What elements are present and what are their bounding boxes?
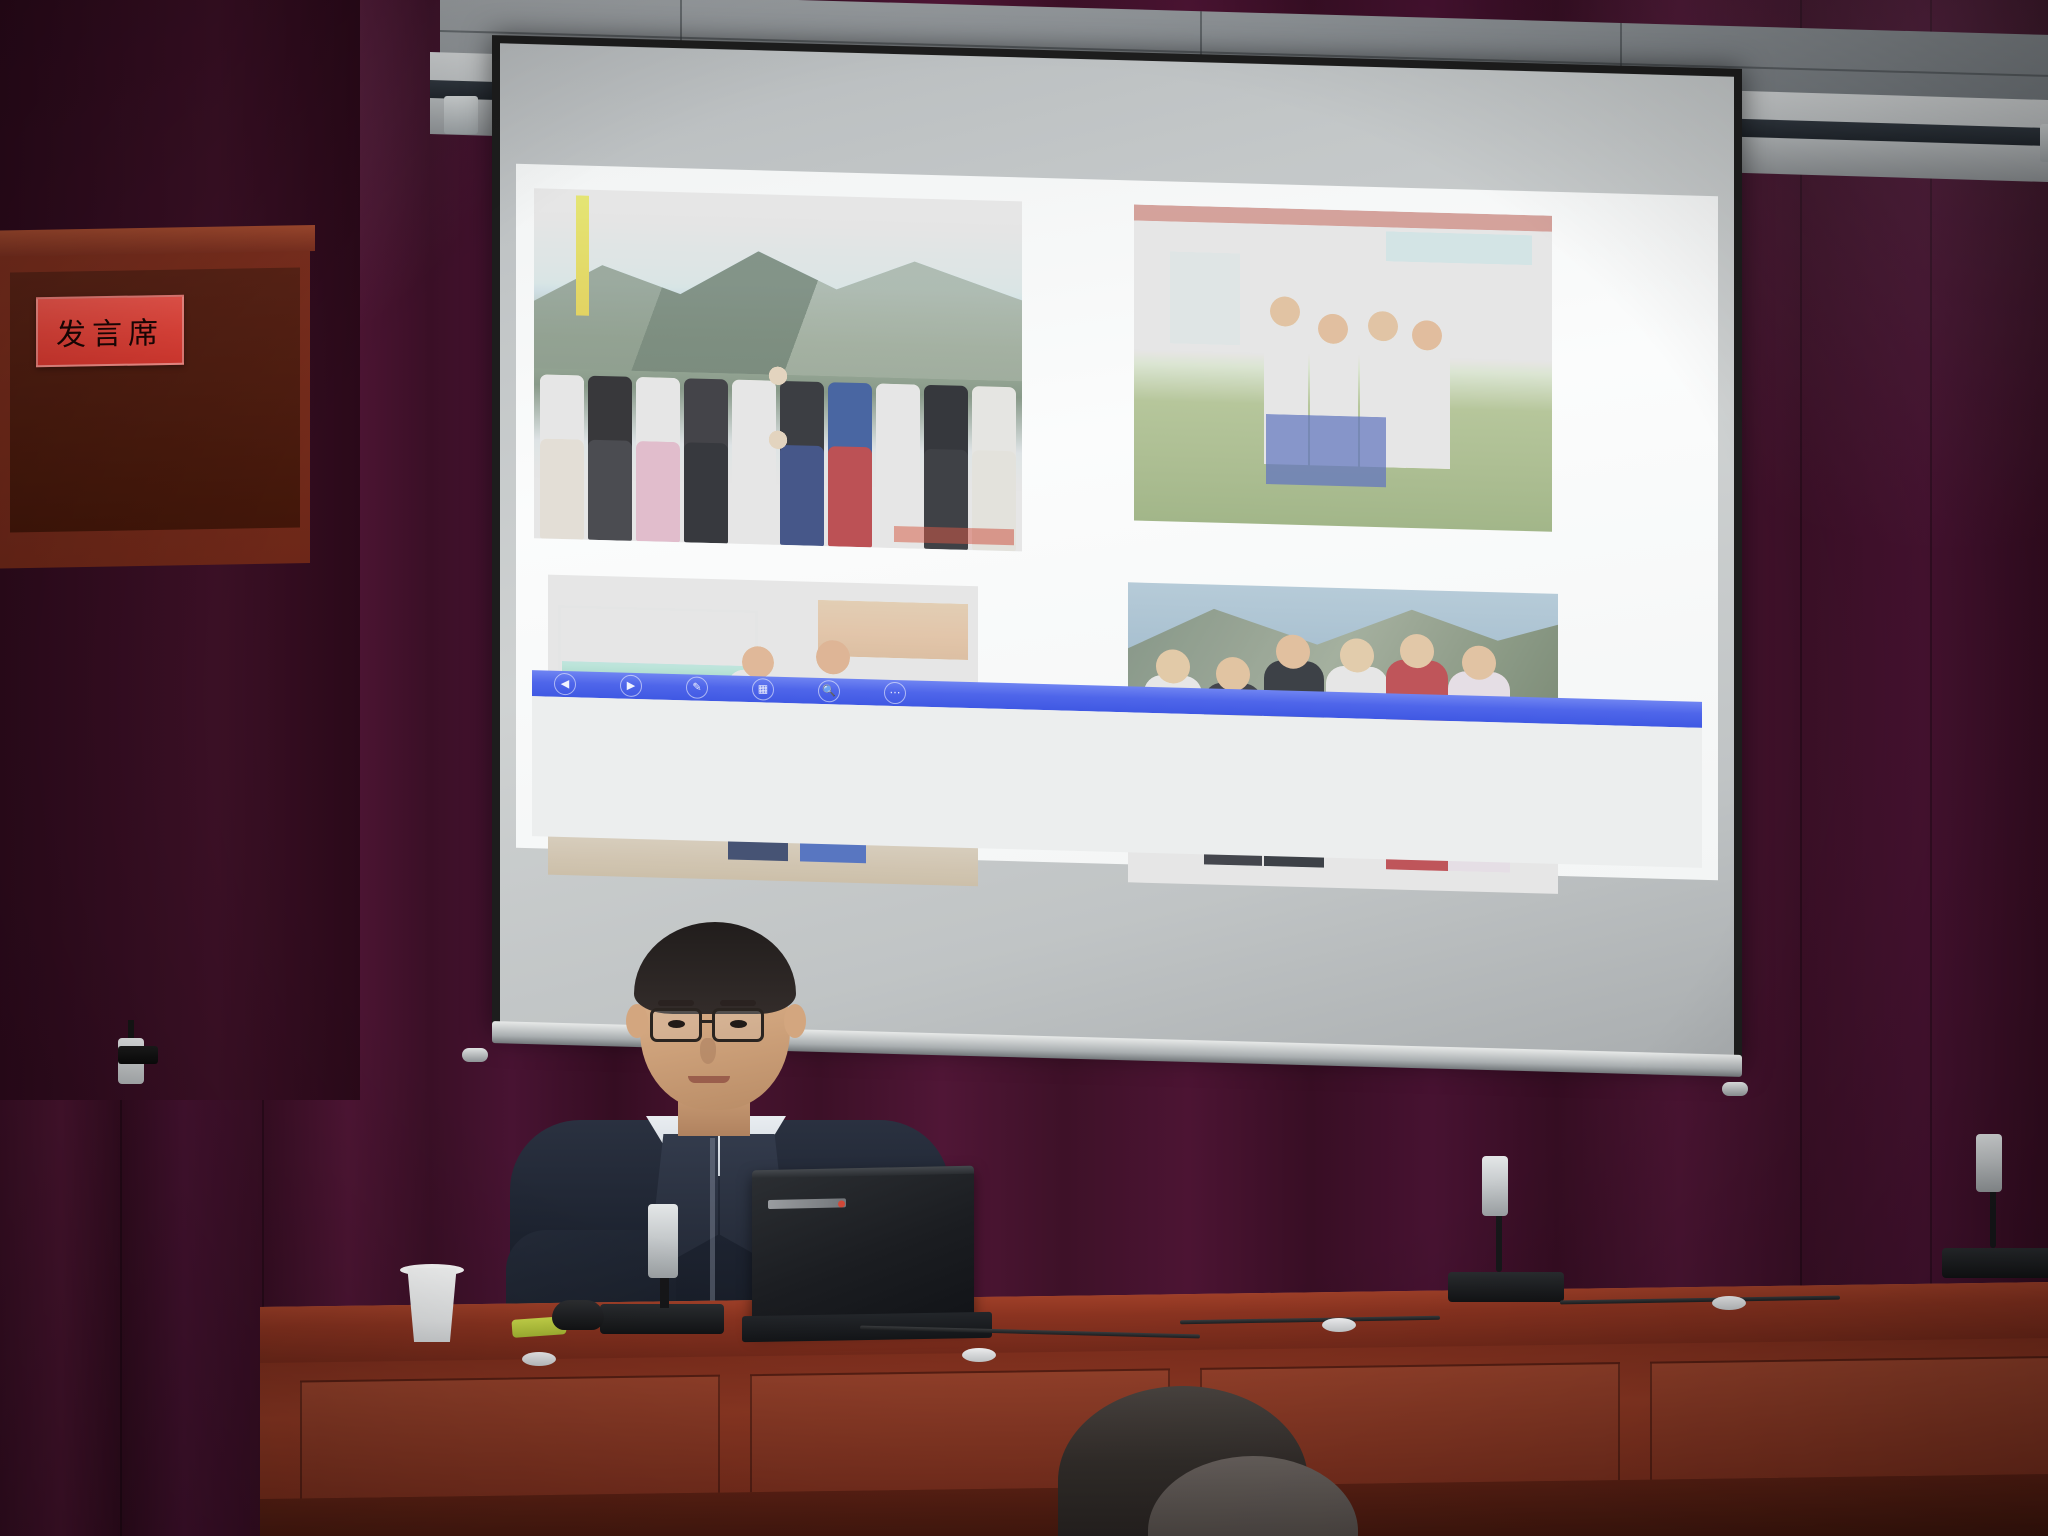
presentation-slide: ◀ ▶ ✎ ▦ 🔍 ⋯ (516, 164, 1718, 881)
computer-mouse[interactable] (552, 1300, 604, 1330)
zoom-magnifier-icon[interactable]: 🔍 (818, 680, 840, 703)
more-options-icon[interactable]: ⋯ (884, 682, 906, 705)
desk-microphone-base (600, 1304, 724, 1334)
cable-grommet (522, 1352, 556, 1366)
conference-hall-scene: ◀ ▶ ✎ ▦ 🔍 ⋯ 发言席 (0, 0, 2048, 1536)
desk-microphone-stem (660, 1274, 669, 1308)
desk-front-panel (1650, 1356, 2048, 1482)
cable-grommet (1322, 1318, 1356, 1332)
photo-mountain-group (534, 188, 1022, 551)
podium-name-plate-label: 发言席 (56, 308, 164, 354)
housing-endcap-right (2040, 124, 2048, 162)
speaker-desk (0, 976, 2048, 1536)
desk-front-panel (300, 1375, 720, 1501)
slide-navigator-icon[interactable]: ▦ (752, 678, 774, 701)
cable-grommet (1712, 1296, 1746, 1310)
desk-microphone-base (1448, 1272, 1564, 1302)
desk-microphone-center (648, 1204, 678, 1278)
desk-microphone-base (1942, 1248, 2048, 1278)
pen-annotation-icon[interactable]: ✎ (686, 676, 708, 699)
previous-slide-icon[interactable]: ◀ (554, 673, 576, 696)
laptop-brand-logo (768, 1198, 846, 1209)
projection-screen-surface: ◀ ▶ ✎ ▦ 🔍 ⋯ (500, 43, 1734, 1060)
desk-microphone-far-right (1976, 1134, 2002, 1192)
housing-endcap-left (444, 96, 478, 134)
podium-name-plate: 发言席 (36, 295, 184, 368)
cable-grommet (962, 1348, 996, 1362)
desk-microphone-right (1482, 1156, 1508, 1216)
photo-building-group (1134, 204, 1552, 531)
projection-screen: ◀ ▶ ✎ ▦ 🔍 ⋯ (492, 35, 1742, 1069)
laptop[interactable] (752, 1166, 974, 1331)
next-slide-icon[interactable]: ▶ (620, 675, 642, 698)
